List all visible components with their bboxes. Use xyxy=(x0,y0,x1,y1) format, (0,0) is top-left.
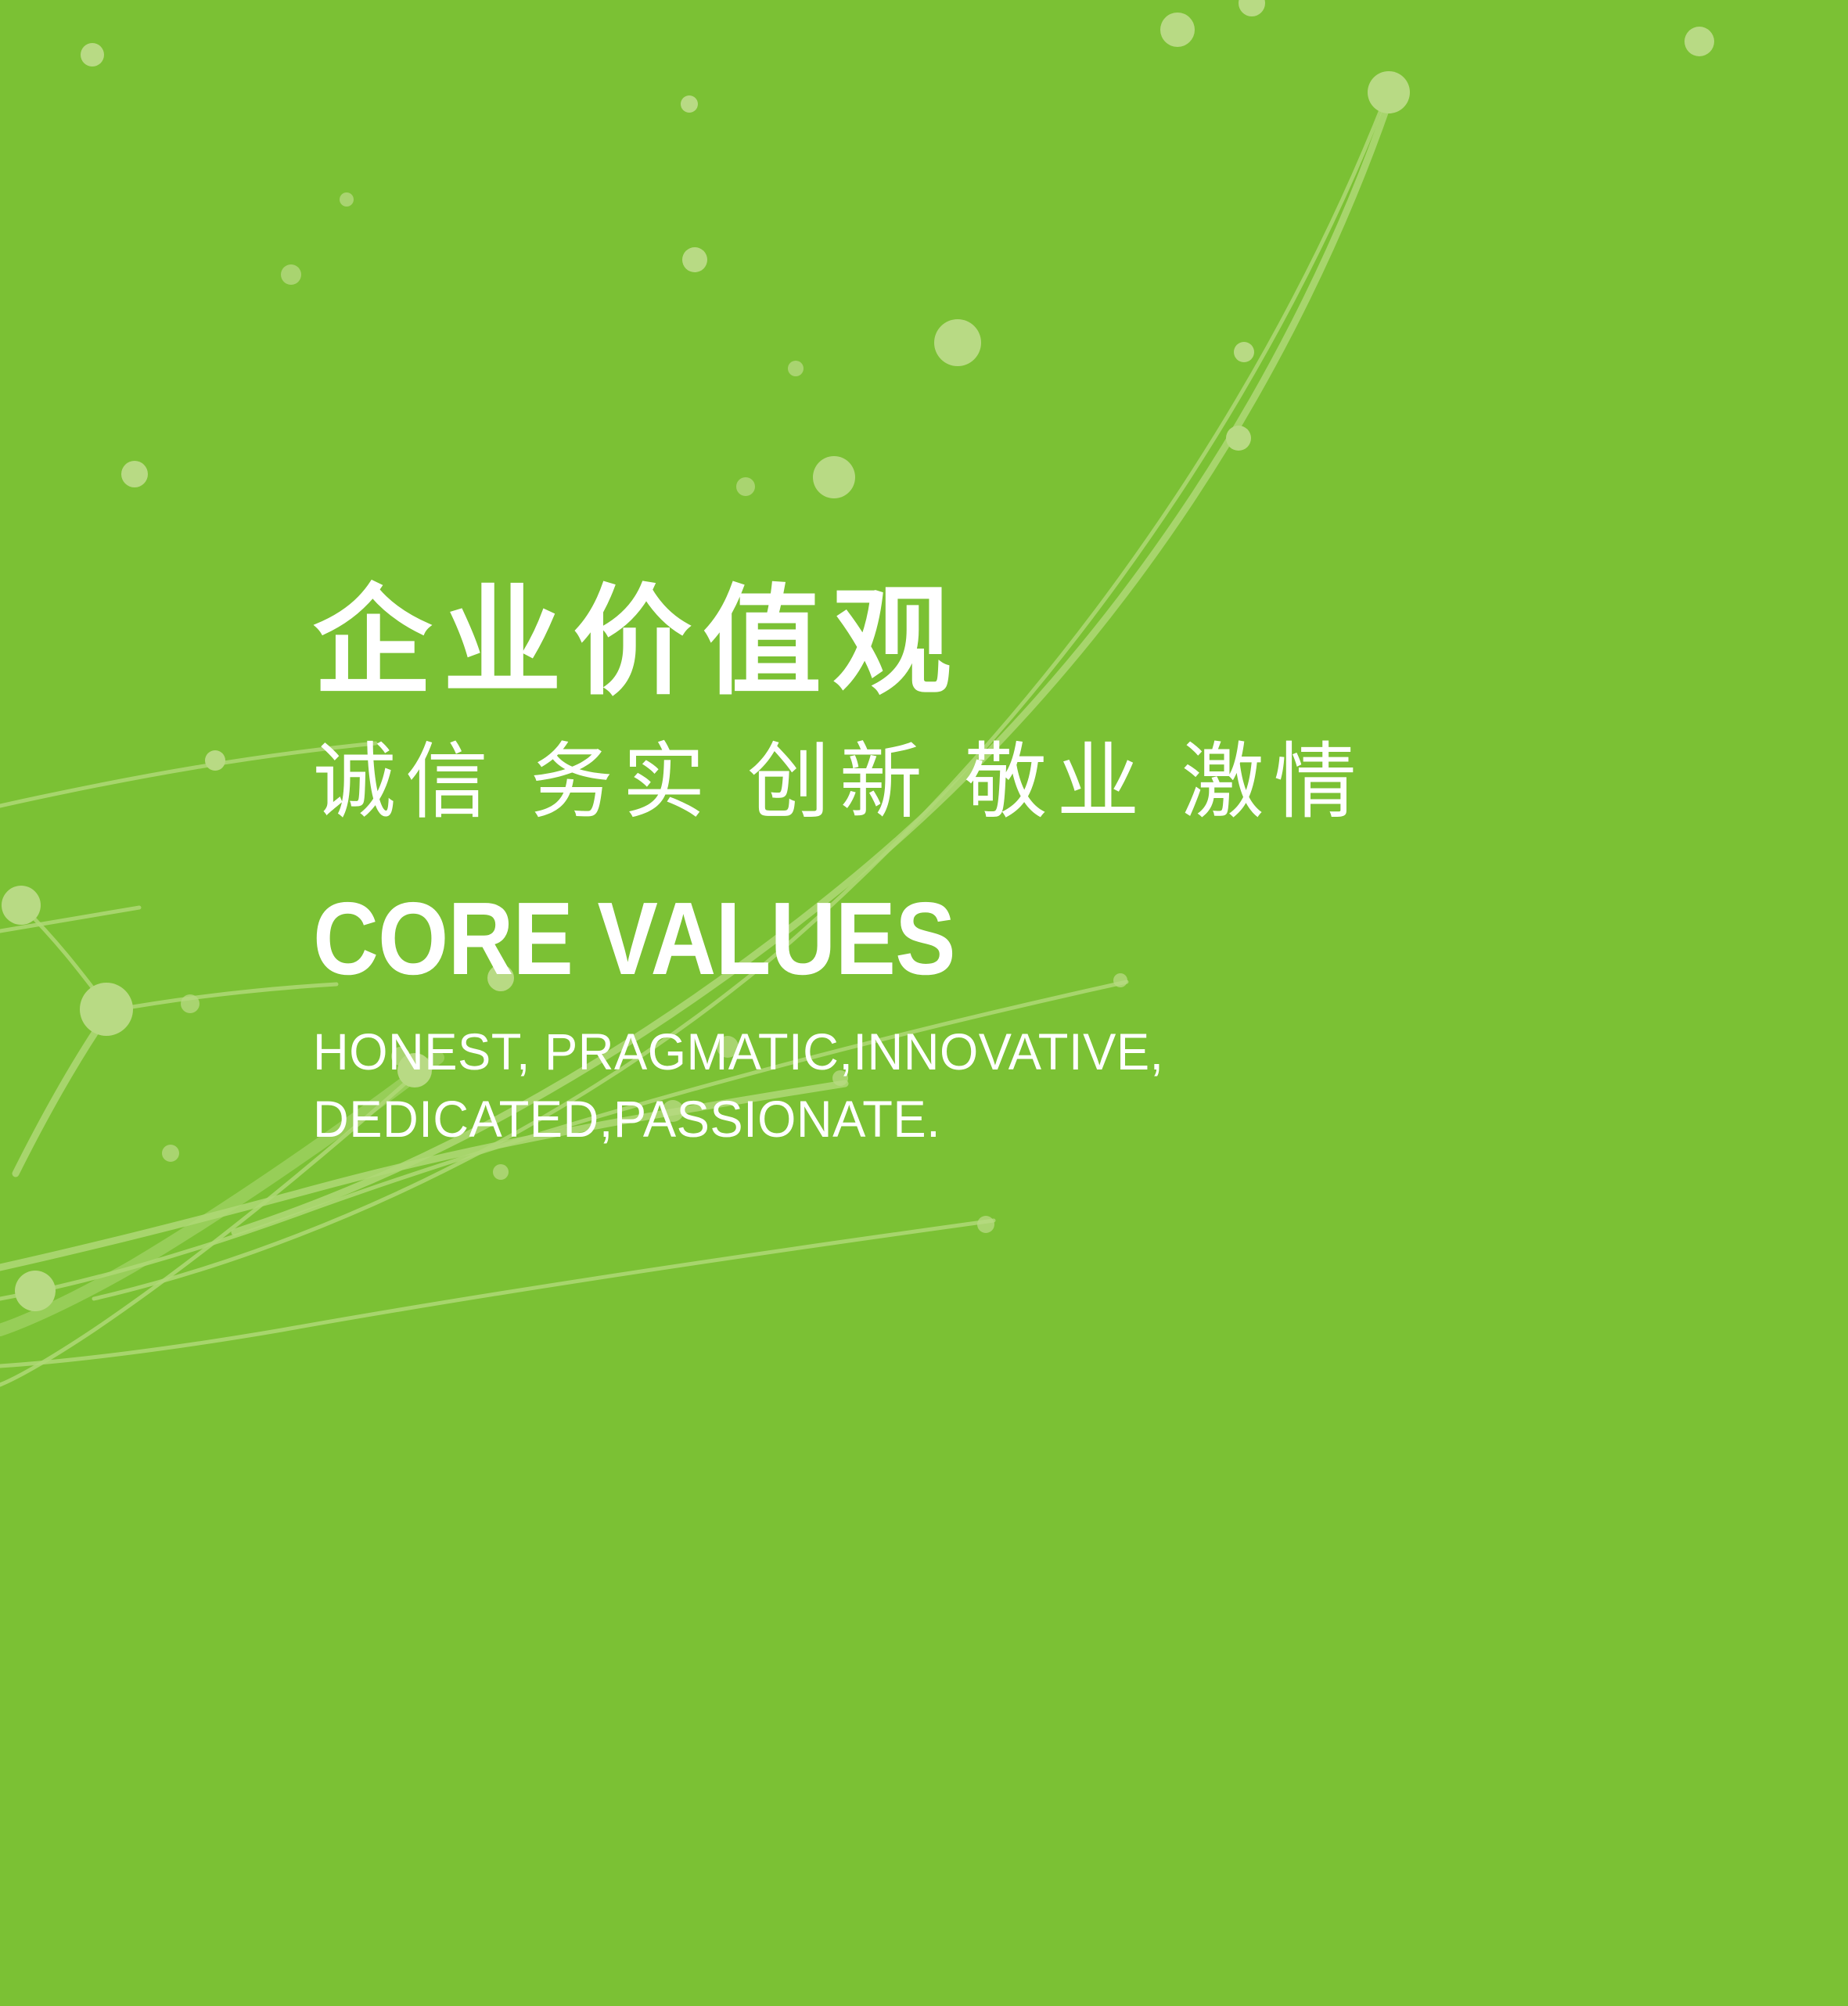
curve-fan-b xyxy=(0,1220,994,1366)
curve-hub-spoke-2 xyxy=(110,984,336,1011)
body-line-2: DEDICATED,PASSIONATE. xyxy=(313,1086,1665,1153)
headline-english: CORE VALUES xyxy=(313,887,1552,990)
content-block: 企业价值观 诚信 务实 创新 敬业 激情 CORE VALUES HONEST,… xyxy=(313,582,1721,1152)
subtitle-chinese-values: 诚信 务实 创新 敬业 激情 xyxy=(313,736,1721,829)
curve-hub-spoke-1 xyxy=(16,1011,110,1174)
curve-mid-left-link xyxy=(0,908,139,931)
page-title-chinese: 企业价值观 xyxy=(313,582,1721,703)
body-line-1: HONEST, PRAGMATIC,INNOVATIVE, xyxy=(313,1019,1665,1086)
body-english-values: HONEST, PRAGMATIC,INNOVATIVE, DEDICATED,… xyxy=(313,1019,1665,1153)
curve-hub-spoke-3 xyxy=(23,908,108,1008)
core-values-poster: .nline { fill: none; stroke: #AFD877; st… xyxy=(0,0,1848,2006)
